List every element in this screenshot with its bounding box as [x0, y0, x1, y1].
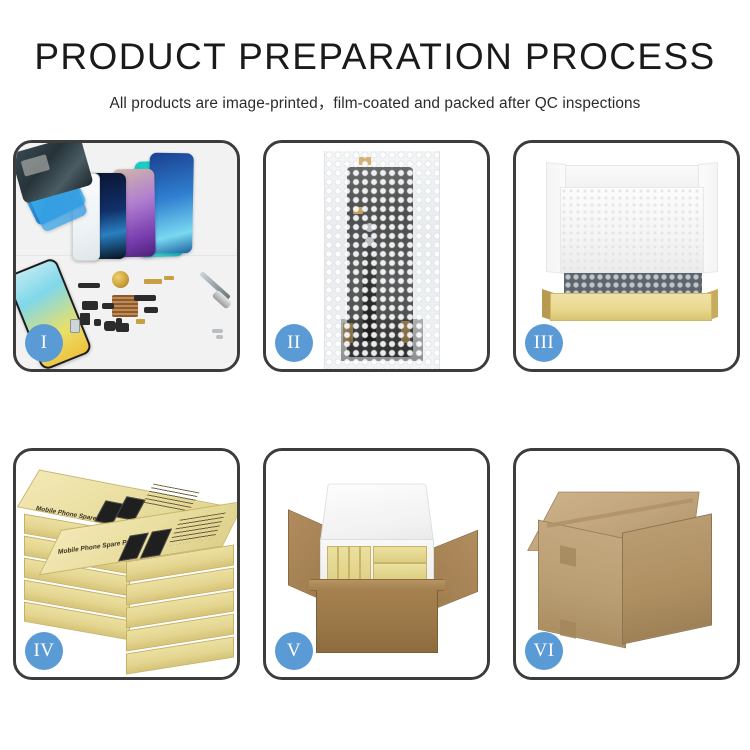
step-badge-3: III: [525, 324, 563, 362]
page-header: PRODUCT PREPARATION PROCESS All products…: [0, 0, 750, 113]
panel-step-2[interactable]: II: [263, 140, 490, 372]
panel-step-4[interactable]: Mobile Phone Spare Parts Mobile Phone Sp…: [13, 448, 240, 680]
panel-step-1[interactable]: I: [13, 140, 240, 372]
panel-step-3[interactable]: III: [513, 140, 740, 372]
step-badge-1: I: [25, 324, 63, 362]
step-badge-2: II: [275, 324, 313, 362]
step-badge-6: VI: [525, 632, 563, 670]
panel-step-6[interactable]: VI: [513, 448, 740, 680]
page-subtitle: All products are image-printed，film-coat…: [0, 75, 750, 113]
step-badge-4: IV: [25, 632, 63, 670]
step-badge-5: V: [275, 632, 313, 670]
panel-step-5[interactable]: V: [263, 448, 490, 680]
process-grid: I II: [13, 140, 740, 680]
page-title: PRODUCT PREPARATION PROCESS: [0, 38, 750, 75]
